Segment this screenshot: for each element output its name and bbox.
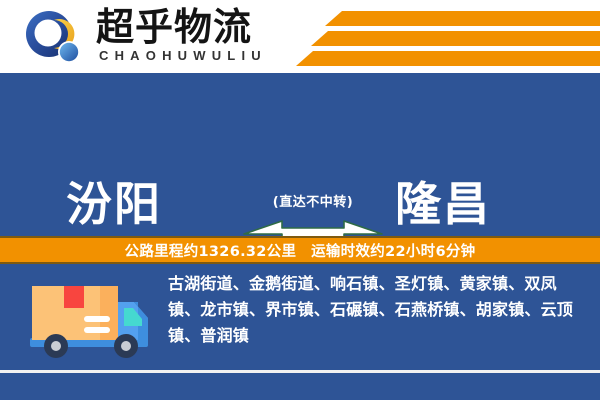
- route-info-text: 公路里程约1326.32公里 运输时效约22小时6分钟: [125, 240, 476, 261]
- destination-city: 隆昌: [395, 168, 491, 234]
- delivery-truck-icon: [22, 276, 154, 360]
- brand-name-en: CHAOHUWULIU: [99, 48, 267, 63]
- route-note-direct: (直达不中转): [238, 191, 388, 210]
- coverage-town-list: 古湖街道、金鹅街道、响石镇、圣灯镇、黄家镇、双凤镇、龙市镇、界市镇、石碾镇、石燕…: [168, 271, 580, 349]
- route-info-bar: 公路里程约1326.32公里 运输时效约22小时6分钟: [0, 236, 600, 264]
- coverage-area-panel: 古湖街道、金鹅街道、响石镇、圣灯镇、黄家镇、双凤镇、龙市镇、界市镇、石碾镇、石燕…: [0, 264, 600, 370]
- logistics-route-banner: 超乎物流 CHAOHUWULIU 汾阳 (直达不中转) 【往返运输】: [0, 0, 600, 400]
- footer-strip: [0, 373, 600, 400]
- route-panel: 汾阳 (直达不中转) 【往返运输】 隆昌: [0, 73, 600, 236]
- speed-stripes-icon: [280, 0, 600, 73]
- origin-city: 汾阳: [66, 168, 162, 234]
- circle-q-logo-icon: [24, 10, 84, 66]
- brand-name-cn: 超乎物流: [96, 6, 252, 48]
- banner-header: 超乎物流 CHAOHUWULIU: [0, 0, 600, 73]
